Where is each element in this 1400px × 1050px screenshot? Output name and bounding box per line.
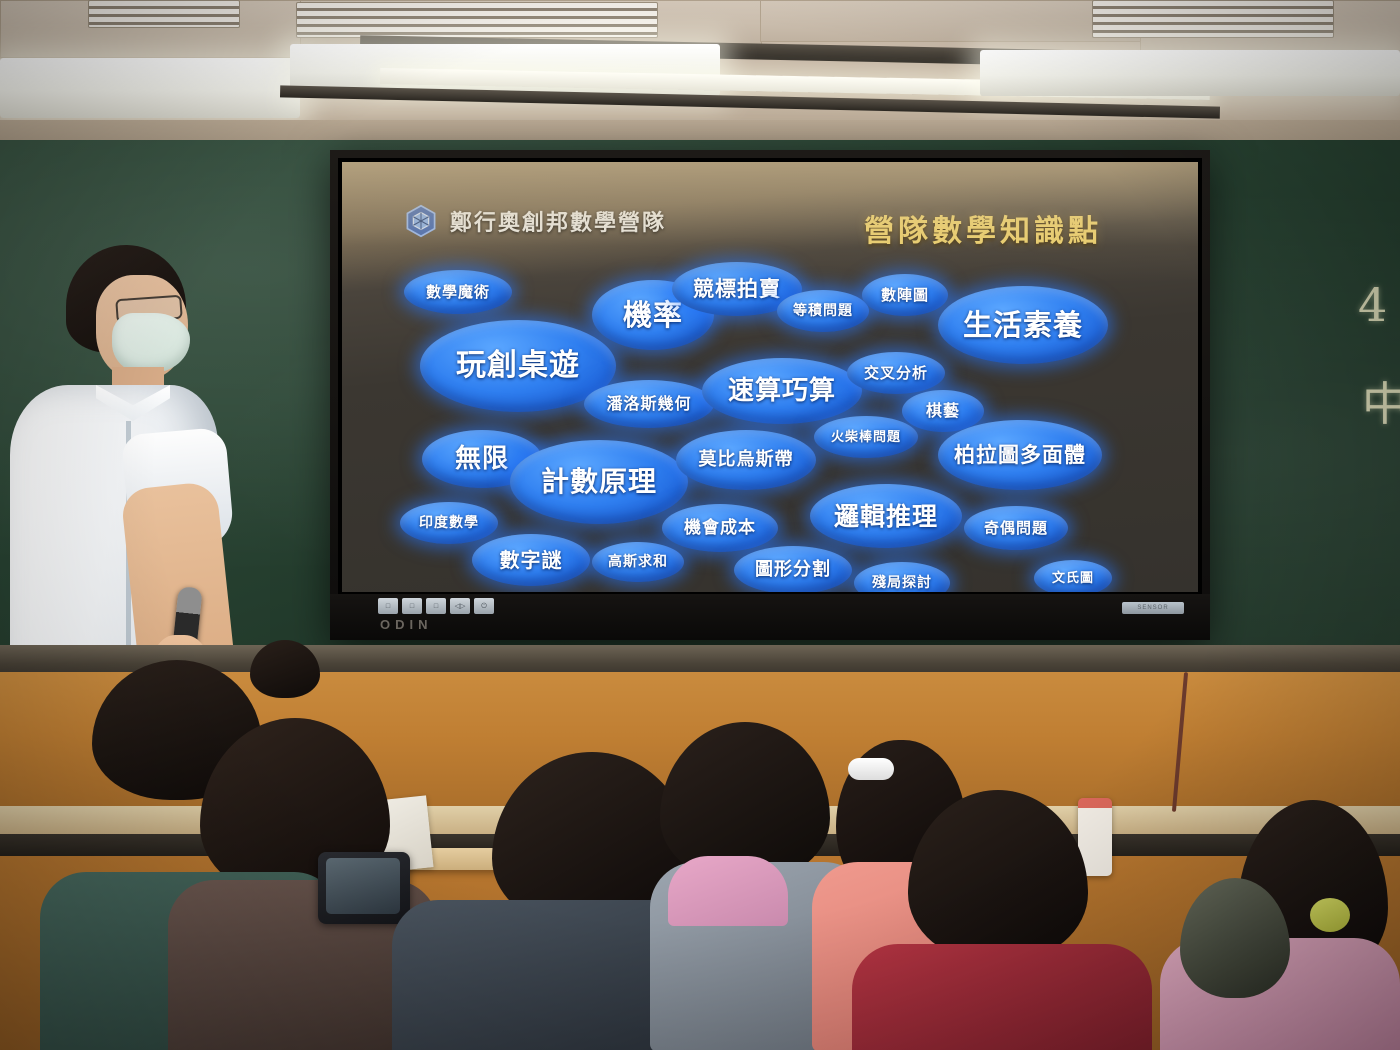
knowledge-bubble[interactable]: 高斯求和 bbox=[592, 542, 684, 582]
audience-hoodie bbox=[668, 856, 788, 926]
display-osd-button[interactable]: ◁▷ bbox=[450, 598, 470, 614]
knowledge-bubble[interactable]: 潘洛斯幾何 bbox=[584, 380, 714, 428]
knowledge-bubble[interactable]: 邏輯推理 bbox=[810, 484, 962, 548]
ceiling-light bbox=[0, 58, 300, 118]
audience-body bbox=[852, 944, 1152, 1050]
knowledge-bubble[interactable]: 生活素養 bbox=[938, 286, 1108, 364]
knowledge-bubble[interactable]: 機會成本 bbox=[662, 504, 778, 552]
knowledge-bubble[interactable]: 等積問題 bbox=[777, 290, 869, 332]
knowledge-bubble[interactable]: 圖形分割 bbox=[734, 546, 852, 592]
display-osd-button[interactable]: □ bbox=[426, 598, 446, 614]
hair-bow bbox=[848, 758, 894, 780]
air-vent bbox=[296, 2, 658, 38]
presentation-slide: 鄭行奧創邦數學營隊 營隊數學知識點 數學魔術玩創桌遊機率競標拍賣等積問題數陣圖生… bbox=[342, 162, 1198, 592]
hexagon-cube-icon bbox=[404, 204, 438, 238]
presenter-face-mask bbox=[112, 313, 190, 373]
display-osd-button[interactable]: ⏻ bbox=[474, 598, 494, 614]
ceiling-light bbox=[980, 50, 1400, 96]
knowledge-bubble[interactable]: 數陣圖 bbox=[862, 274, 948, 316]
slide-brand: 鄭行奧創邦數學營隊 bbox=[404, 204, 666, 238]
knowledge-bubble[interactable]: 殘局探討 bbox=[854, 562, 950, 592]
knowledge-bubble[interactable]: 文氏圖 bbox=[1034, 560, 1112, 592]
display-ir-sensor: SENSOR bbox=[1122, 602, 1184, 614]
air-vent bbox=[1092, 0, 1334, 38]
classroom-photo-scene: 4 中 鄭行奧創邦數學營隊 營隊數學知識點 數學魔術玩創桌遊機率競標拍賣等積問題… bbox=[0, 0, 1400, 1050]
ceiling-panel bbox=[760, 0, 1142, 42]
display-osd-button[interactable]: □ bbox=[402, 598, 422, 614]
display-brand-label: ODIN bbox=[380, 617, 433, 632]
slide-brand-text: 鄭行奧創邦數學營隊 bbox=[450, 205, 666, 237]
chalk-writing: 4 bbox=[1358, 278, 1387, 332]
knowledge-bubble[interactable]: 火柴棒問題 bbox=[814, 416, 918, 458]
knowledge-bubble[interactable]: 奇偶問題 bbox=[964, 506, 1068, 550]
wall-display[interactable]: 鄭行奧創邦數學營隊 營隊數學知識點 數學魔術玩創桌遊機率競標拍賣等積問題數陣圖生… bbox=[330, 150, 1210, 640]
knowledge-bubble[interactable]: 數字謎 bbox=[472, 534, 590, 586]
chalk-writing: 中 bbox=[1362, 368, 1400, 434]
knowledge-bubble[interactable]: 柏拉圖多面體 bbox=[938, 420, 1102, 490]
knowledge-bubble[interactable]: 交叉分析 bbox=[847, 352, 945, 394]
knowledge-bubble[interactable]: 莫比烏斯帶 bbox=[676, 430, 816, 490]
slide-title: 營隊數學知識點 bbox=[864, 206, 1102, 250]
smartphone-screen bbox=[326, 858, 400, 914]
display-osd-buttons[interactable]: □□□◁▷⏻ bbox=[378, 598, 494, 614]
knowledge-bubble[interactable]: 數學魔術 bbox=[404, 270, 512, 314]
hair-clip bbox=[1310, 898, 1350, 932]
air-vent bbox=[88, 0, 240, 28]
display-chin: □□□◁▷⏻ ODIN SENSOR bbox=[330, 594, 1210, 640]
knowledge-bubble[interactable]: 速算巧算 bbox=[702, 358, 862, 424]
display-osd-button[interactable]: □ bbox=[378, 598, 398, 614]
knowledge-bubble[interactable]: 計數原理 bbox=[510, 440, 688, 524]
knowledge-bubble[interactable]: 印度數學 bbox=[400, 502, 498, 544]
